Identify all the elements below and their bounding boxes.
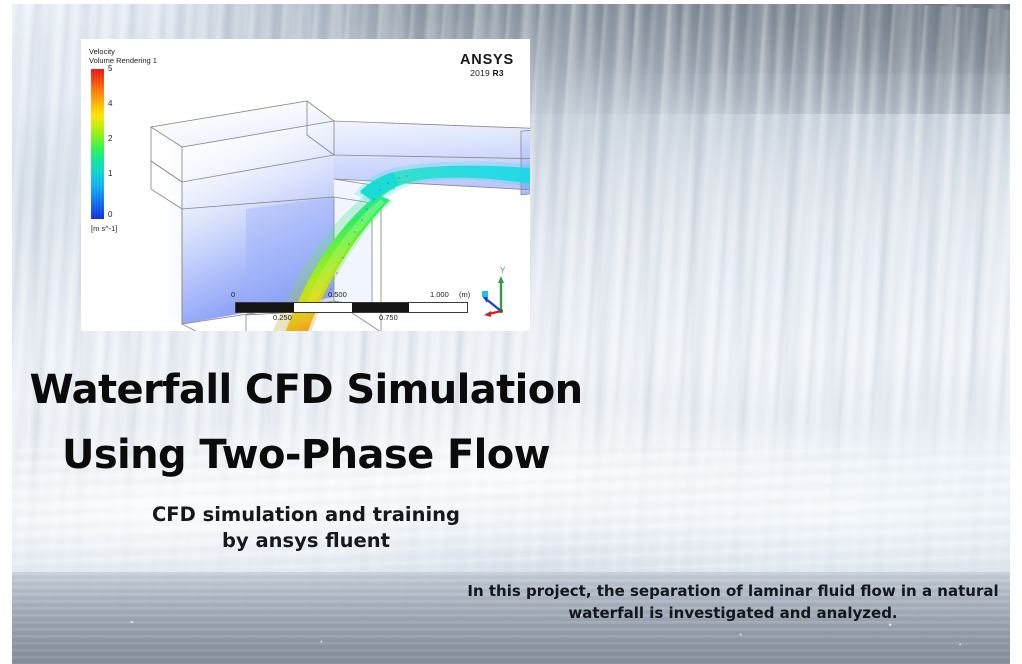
cfd-result-panel: Velocity Volume Rendering 1 5 4 2 1 0 [m…: [81, 39, 530, 331]
subtitle-line-1: CFD simulation and training: [0, 502, 612, 528]
scale-seg-2: [294, 303, 352, 312]
title-block: Waterfall CFD Simulation Using Two-Phase…: [0, 366, 612, 479]
drop-box-side-haze: [151, 127, 182, 324]
cfd-geometry-svg: [81, 39, 530, 331]
page-title-line-1: Waterfall CFD Simulation: [0, 366, 612, 414]
slide-canvas: Velocity Volume Rendering 1 5 4 2 1 0 [m…: [0, 0, 1022, 664]
axis-triad: Y: [479, 267, 525, 317]
scale-bar-track: [235, 302, 468, 313]
scale-label-1000: 1.000: [430, 291, 449, 299]
subtitle-line-2: by ansys fluent: [0, 528, 612, 554]
axis-triad-y-label: Y: [500, 266, 505, 275]
scale-seg-3: [352, 303, 410, 312]
scale-label-0750: 0.750: [379, 314, 398, 322]
scale-bar: 0 0.500 1.000 (m) 0.250 0.750: [231, 291, 471, 325]
description-text: In this project, the separation of lamin…: [466, 580, 1000, 624]
scale-seg-1: [236, 303, 294, 312]
scale-label-0250: 0.250: [273, 314, 292, 322]
subtitle-block: CFD simulation and training by ansys flu…: [0, 502, 612, 554]
scale-unit-label: (m): [459, 291, 470, 299]
cfd-3d-scene: [81, 39, 530, 331]
scale-seg-4: [409, 303, 467, 312]
scale-label-0: 0: [231, 291, 235, 299]
page-title-line-2: Using Two-Phase Flow: [0, 431, 612, 479]
scale-label-0500: 0.500: [328, 291, 347, 299]
